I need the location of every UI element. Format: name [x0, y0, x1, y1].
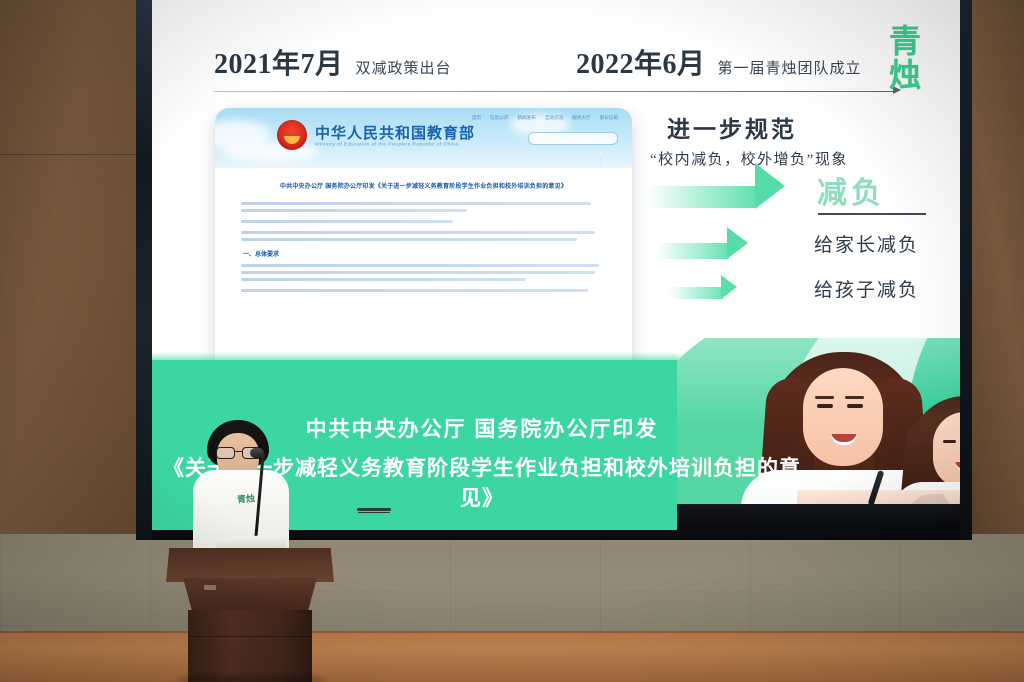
brand-logo: 青烛 — [878, 24, 932, 92]
gov-article-body: 中共中央办公厅 国务院办公厅印发《关于进一步减轻义务教育阶段学生作业负担和校外培… — [215, 168, 632, 378]
right-panel-heading: 进一步规范 — [667, 110, 797, 144]
adult-brow — [815, 396, 834, 399]
timeline-entry-1: 2021年7月 双减政策出台 — [214, 42, 452, 82]
timeline-date-2: 2022年6月 — [576, 42, 706, 82]
slide-page-indicator — [357, 508, 391, 511]
arrow-head — [721, 275, 737, 299]
timeline-axis — [214, 91, 894, 92]
left-wall-panel — [0, 0, 140, 540]
right-panel-item-2: 给孩子减负 — [814, 275, 919, 302]
text-line — [241, 231, 595, 234]
timeline: 2021年7月 双减政策出台 2022年6月 第一届青烛团队成立 — [152, 0, 960, 100]
text-line — [241, 220, 453, 223]
lower-wall-panel — [0, 534, 1024, 634]
gov-search-input[interactable] — [528, 132, 618, 145]
presenter-shirt-logo: 青烛 — [237, 493, 256, 504]
gov-document-screenshot: 中华人民共和国教育部 Ministry of Education of the … — [215, 108, 632, 378]
podium-shadow — [176, 676, 326, 682]
bezel-right-edge — [960, 0, 972, 540]
timeline-date-1: 2021年7月 — [214, 42, 344, 82]
child-eye — [943, 440, 956, 443]
podium — [166, 548, 334, 682]
right-panel-divider — [818, 213, 926, 215]
timeline-desc-1: 双减政策出台 — [356, 57, 452, 78]
text-line — [241, 271, 595, 274]
nav-item[interactable]: 新闻发布 — [517, 115, 535, 121]
gov-article-title: 中共中央办公厅 国务院办公厅印发《关于进一步减轻义务教育阶段学生作业负担和校外培… — [241, 182, 606, 192]
nav-item[interactable]: 部长信箱 — [600, 115, 618, 121]
podium-seam — [188, 636, 312, 637]
text-line — [241, 202, 591, 205]
podium-body — [188, 610, 312, 682]
arrow-head — [727, 227, 748, 259]
right-panel-subheading: “校内减负，校外增负”现象 — [650, 148, 848, 169]
cloud-decor — [223, 142, 319, 162]
adult-brow — [845, 396, 864, 399]
adult-eye — [847, 404, 863, 408]
national-emblem-icon — [277, 120, 307, 150]
gov-section-heading: 一、总体要求 — [243, 249, 606, 258]
dandelion-icon — [592, 146, 610, 166]
nav-item[interactable]: 信息公开 — [490, 115, 508, 121]
text-line — [241, 289, 588, 292]
gov-site-name-cn: 中华人民共和国教育部 — [315, 122, 475, 143]
timeline-entry-2: 2022年6月 第一届青烛团队成立 — [576, 42, 862, 82]
right-panel-item-1: 给家长减负 — [814, 230, 919, 257]
podium-top — [166, 548, 334, 582]
arrow-head — [755, 163, 785, 209]
bezel-left-edge — [136, 0, 152, 540]
gov-paragraph — [241, 220, 606, 223]
gov-paragraph — [241, 231, 606, 241]
nav-item[interactable]: 互动交流 — [545, 115, 563, 121]
podium-front-panel — [174, 578, 326, 612]
adult-eye — [817, 404, 833, 408]
arrow-shaft — [657, 243, 729, 259]
gov-paragraph — [241, 264, 606, 281]
arrow-shaft — [669, 287, 723, 299]
text-line — [241, 278, 526, 281]
timeline-desc-2: 第一届青烛团队成立 — [718, 57, 862, 78]
adult-face — [803, 368, 883, 466]
gov-site-nav: 首页 信息公开 新闻发布 互动交流 服务大厅 部长信箱 — [472, 115, 618, 121]
arrow-shaft — [647, 186, 757, 208]
nav-item[interactable]: 首页 — [472, 115, 481, 121]
gov-site-name-en: Ministry of Education of the People's Re… — [315, 142, 459, 147]
text-line — [241, 264, 599, 267]
presentation-scene: 2021年7月 双减政策出台 2022年6月 第一届青烛团队成立 青烛 中华人民… — [0, 0, 1024, 682]
gov-paragraph — [241, 202, 606, 212]
nav-item[interactable]: 服务大厅 — [572, 115, 590, 121]
gov-paragraph — [241, 289, 606, 292]
gov-site-header: 中华人民共和国教育部 Ministry of Education of the … — [215, 108, 632, 168]
text-line — [241, 209, 467, 212]
text-line — [241, 238, 577, 241]
stage-floor — [0, 631, 1024, 682]
right-wall-panel — [966, 0, 1024, 540]
right-panel-big-label: 减负 — [817, 168, 885, 212]
podium-nameplate — [204, 585, 216, 590]
